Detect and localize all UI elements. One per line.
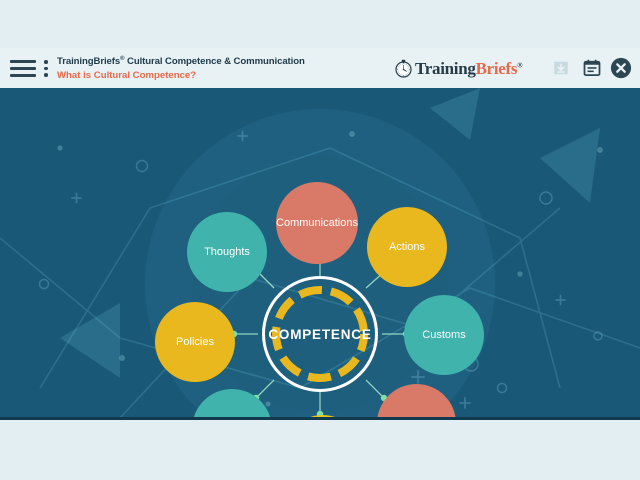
competence-node-thoughts[interactable]: Thoughts — [187, 212, 267, 292]
brand-wordmark: TrainingBriefs® — [415, 59, 522, 78]
brand-training: Training — [415, 59, 476, 78]
competence-node-actions[interactable]: Actions — [367, 207, 447, 287]
hamburger-line — [10, 67, 36, 70]
kebab-dot — [44, 60, 48, 64]
course-title: TrainingBriefs® Cultural Competence & Co… — [57, 56, 305, 68]
slide-bottom-edge — [0, 417, 640, 420]
more-options-icon[interactable] — [44, 60, 49, 77]
stopwatch-icon — [394, 59, 413, 78]
hub-label: COMPETENCE — [262, 276, 378, 392]
player-header: TrainingBriefs® Cultural Competence & Co… — [0, 48, 640, 88]
competence-node-label: Policies — [176, 336, 214, 348]
elearning-player: TrainingBriefs® Cultural Competence & Co… — [0, 0, 640, 480]
lesson-title: What is Cultural Competence? — [57, 70, 305, 82]
kebab-dot — [44, 73, 48, 77]
brand-registered-mark: ® — [517, 61, 522, 69]
competence-node-customs[interactable]: Customs — [404, 295, 484, 375]
slide-canvas: CommunicationsActionsCustomsBeliefsValue… — [0, 88, 640, 420]
course-title-rest: Cultural Competence & Communication — [124, 56, 304, 67]
course-title-brand: TrainingBriefs — [57, 56, 120, 67]
competence-node-policies[interactable]: Policies — [155, 302, 235, 382]
competence-node-label: Actions — [389, 241, 425, 253]
hamburger-line — [10, 74, 36, 77]
hamburger-menu-icon[interactable] — [10, 60, 36, 77]
competence-node-label: Customs — [422, 329, 465, 341]
competence-node-label: Thoughts — [204, 246, 250, 258]
close-x-icon[interactable] — [610, 57, 632, 79]
trainingbriefs-logo: TrainingBriefs® — [394, 57, 522, 79]
download-save-icon[interactable] — [551, 58, 571, 78]
hamburger-line — [10, 60, 36, 63]
brand-briefs: Briefs — [476, 59, 518, 78]
competence-node-communications[interactable]: Communications — [276, 182, 358, 264]
kebab-dot — [44, 67, 48, 71]
notes-calendar-icon[interactable] — [582, 58, 602, 78]
competence-node-label: Communications — [276, 217, 358, 229]
header-titles: TrainingBriefs® Cultural Competence & Co… — [57, 56, 305, 82]
competence-hub: COMPETENCE — [262, 276, 378, 392]
